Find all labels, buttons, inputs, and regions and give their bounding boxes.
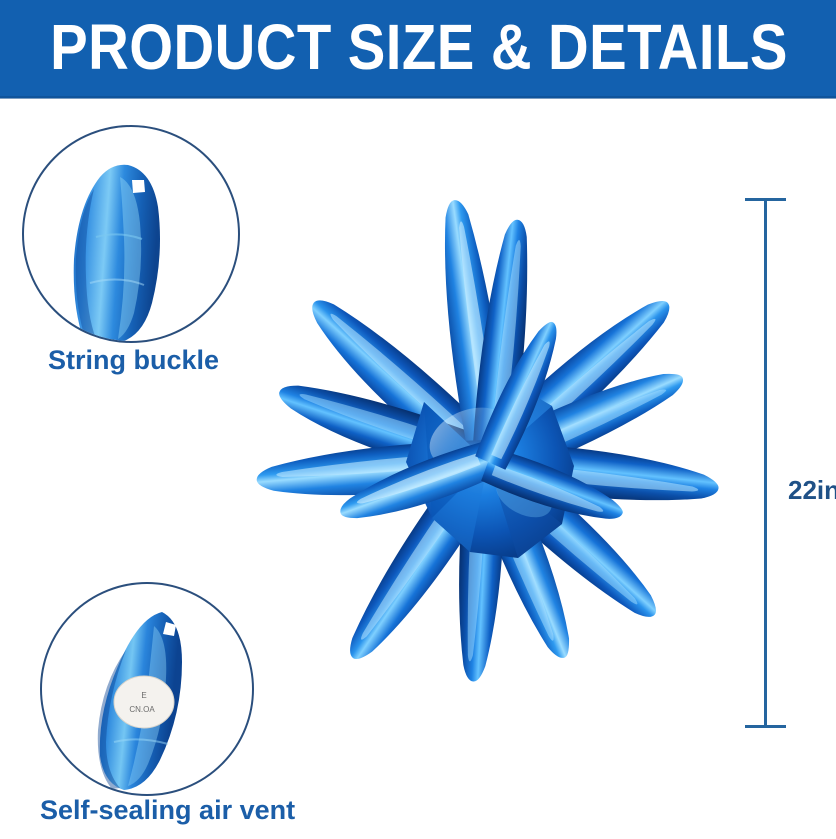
callout-label-air-vent: Self-sealing air vent — [40, 794, 295, 826]
callout-circle-string-buckle — [22, 125, 240, 343]
dimension-line-vertical — [764, 198, 767, 728]
page-title: PRODUCT SIZE & DETAILS — [50, 12, 786, 82]
header-divider — [0, 96, 836, 99]
starburst-balloon-image — [218, 180, 758, 740]
dimension-label: 22in — [788, 475, 836, 505]
callout-label-string-buckle: String buckle — [48, 344, 219, 376]
header-banner: PRODUCT SIZE & DETAILS — [0, 0, 836, 98]
svg-text:E: E — [141, 691, 146, 700]
dimension-cap-bottom — [745, 725, 786, 728]
balloon-tip-valve-icon: E CN.OA — [42, 584, 252, 794]
product-infographic: PRODUCT SIZE & DETAILS — [0, 0, 836, 839]
callout-circle-air-vent: E CN.OA — [40, 582, 254, 796]
svg-text:CN.OA: CN.OA — [129, 705, 155, 714]
balloon-tip-string-hole-icon — [24, 127, 238, 341]
